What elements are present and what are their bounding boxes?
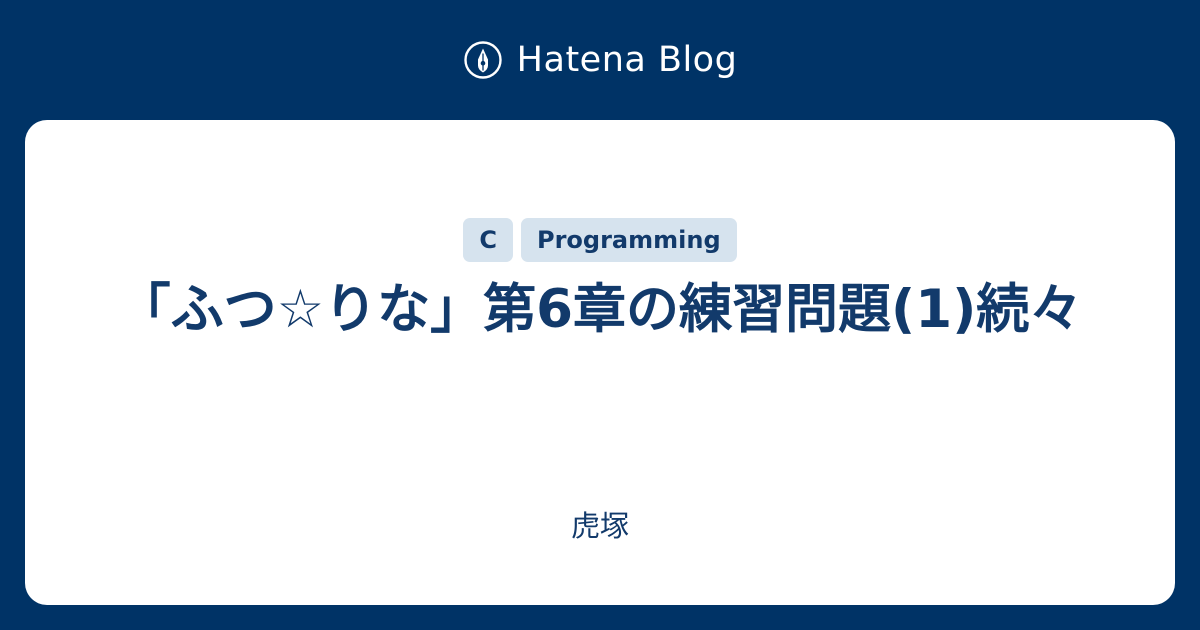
category-tag-c[interactable]: C [463, 218, 513, 262]
entry-card: C Programming 「ふつ☆りな」第6章の練習問題(1)続々 虎塚 [25, 120, 1175, 605]
brand-name: Hatena Blog [517, 43, 738, 78]
hatena-pen-nib-logo-icon [463, 40, 503, 80]
hatena-blog-share-card: Hatena Blog C Programming 「ふつ☆りな」第6章の練習問… [0, 0, 1200, 630]
category-tag-programming[interactable]: Programming [521, 218, 737, 262]
blog-name[interactable]: 虎塚 [25, 512, 1175, 541]
brand-header: Hatena Blog [0, 0, 1200, 120]
category-tag-list: C Programming [463, 218, 736, 262]
entry-title[interactable]: 「ふつ☆りな」第6章の練習問題(1)続々 [118, 278, 1083, 343]
